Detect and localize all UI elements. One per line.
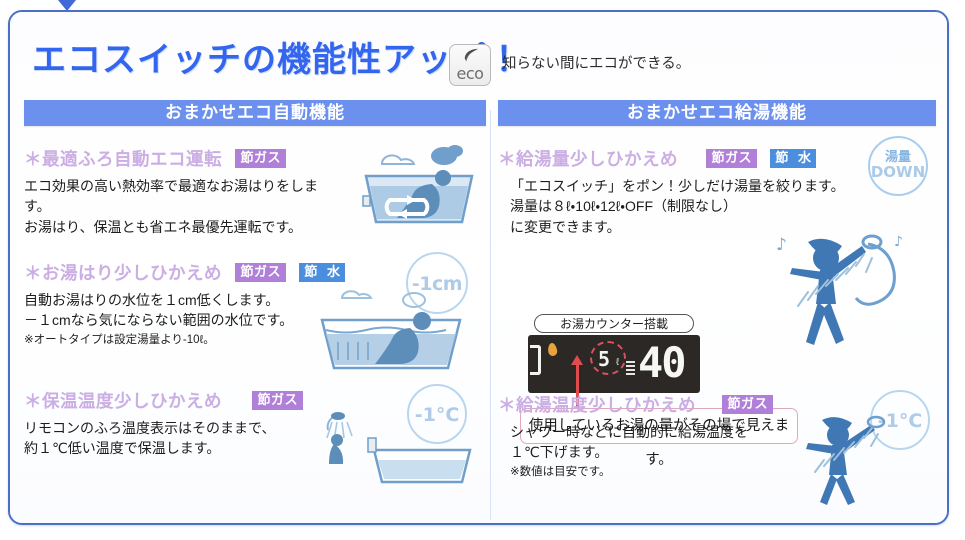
tag-water-saving: 節 水	[770, 149, 816, 168]
feature-block-keep-warm: ＊保温温度少しひかえめ 節ガス リモコンのふろ温度表示はそのままで、 約１℃低い…	[24, 388, 486, 459]
feature-title: ＊保温温度少しひかえめ	[24, 388, 222, 413]
leaf-icon	[462, 48, 480, 64]
column-auto-features: おまかせエコ自動機能 ＊最適ふろ自動エコ運転 節ガス エコ効果の高い熱効率で最適…	[24, 100, 486, 126]
svg-text:♪: ♪	[776, 235, 787, 255]
tag-gas-saving: 節ガス	[235, 263, 286, 282]
feature-body: リモコンのふろ温度表示はそのままで、 約１℃低い温度で保温します。	[24, 418, 344, 459]
lcd-left-segment	[530, 345, 541, 375]
tag-gas-saving: 節ガス	[722, 395, 773, 414]
eco-badge-icon: eco	[449, 44, 491, 86]
feature-note: ※オートタイプは設定湯量より-10ℓ。	[24, 332, 344, 348]
lcd-big-value: 40	[638, 341, 685, 385]
svg-text:♪: ♪	[894, 234, 903, 250]
tag-gas-saving: 節ガス	[706, 149, 757, 168]
lcd-display: 5 ℓ 40	[528, 335, 700, 393]
content-frame: エコスイッチの機能性アップ！ eco 知らない間にエコができる。 おまかせエコ自…	[8, 10, 949, 525]
tag-gas-saving: 節ガス	[252, 391, 303, 410]
feature-title: ＊給湯温度少しひかえめ	[498, 392, 696, 417]
feature-title: ＊給湯量少しひかえめ	[498, 146, 678, 171]
tag-gas-saving: 節ガス	[235, 149, 286, 168]
brochure-page: エコスイッチの機能性アップ！ eco 知らない間にエコができる。 おまかせエコ自…	[0, 0, 965, 540]
badge-volume-down: 湯量 DOWN	[868, 136, 928, 196]
feature-title: ＊お湯はり少しひかえめ	[24, 260, 222, 285]
badge-volume-down-top: 湯量	[870, 149, 926, 164]
illustration-shower-person-2	[788, 412, 918, 507]
illustration-bathtub-level	[314, 278, 479, 373]
header: エコスイッチの機能性アップ！ eco 知らない間にエコができる。	[10, 24, 947, 84]
illustration-shower-person: ♪ ♪	[768, 228, 933, 378]
feature-body: 自動お湯はりの水位を１cm低くします。 －１cmなら気にならない範囲の水位です。	[24, 290, 344, 331]
column-heading-right: おまかせエコ給湯機能	[498, 100, 936, 126]
counter-label: お湯カウンター搭載	[534, 314, 694, 333]
feature-body: エコ効果の高い熱効率で最適なお湯はりをします。 お湯はり、保温とも省エネ最優先運…	[24, 176, 324, 237]
hot-water-counter: お湯カウンター搭載 5 ℓ 40	[528, 314, 700, 393]
column-divider	[490, 110, 491, 520]
feature-block-optimal-bath: ＊最適ふろ自動エコ運転 節ガス エコ効果の高い熱効率で最適なお湯はりをします。 …	[24, 146, 486, 237]
badge-volume-down-bottom: DOWN	[870, 164, 926, 181]
lcd-highlight-ring	[590, 341, 626, 375]
illustration-shower-tub	[304, 410, 484, 490]
header-note: 知らない間にエコができる。	[502, 52, 690, 73]
feature-title: ＊最適ふろ自動エコ運転	[24, 146, 222, 171]
lcd-bar-indicator	[626, 361, 635, 381]
content-frame-inner: エコスイッチの機能性アップ！ eco 知らない間にエコができる。 おまかせエコ自…	[10, 12, 947, 523]
feature-block-hotwater-volume: ＊給湯量少しひかえめ 節ガス 節 水 「エコスイッチ」をポン！少しだけ湯量を絞り…	[498, 146, 943, 237]
flame-icon	[547, 342, 558, 356]
eco-badge-label: eco	[450, 64, 490, 83]
column-hotwater-features: おまかせエコ給湯機能 ＊給湯量少しひかえめ 節ガス 節 水 「エコスイッチ」をポ…	[498, 100, 943, 126]
column-heading-left: おまかせエコ自動機能	[24, 100, 486, 126]
feature-block-hotwater-temp: ＊給湯温度少しひかえめ 節ガス シャワー時などに自動的に給湯温度を １℃下げます…	[498, 392, 943, 480]
illustration-bathtub-eco	[344, 140, 489, 235]
feature-block-water-level: ＊お湯はり少しひかえめ 節ガス 節 水 自動お湯はりの水位を１cm低くします。 …	[24, 260, 486, 348]
